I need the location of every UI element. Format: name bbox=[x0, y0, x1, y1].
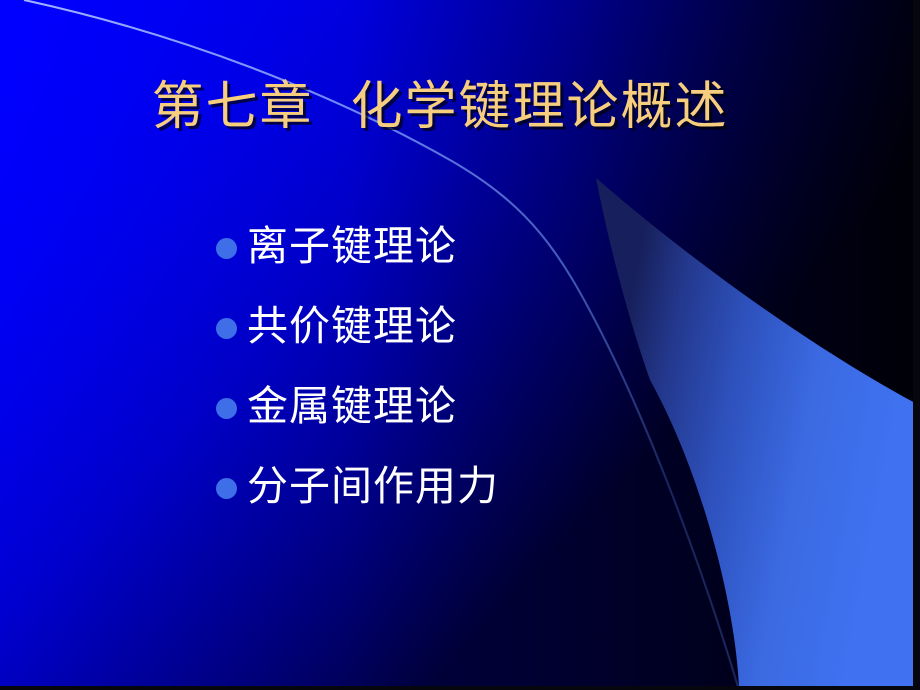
slide-right-edge bbox=[913, 0, 920, 690]
disc-bullet-icon bbox=[216, 238, 237, 259]
list-item[interactable]: 分子间作用力 bbox=[216, 446, 816, 526]
presentation-slide: 第七章 化学键理论概述 离子键理论 共价键理论 金属键理论 分子间作用力 bbox=[0, 0, 920, 690]
disc-bullet-icon bbox=[216, 318, 237, 339]
list-item[interactable]: 金属键理论 bbox=[216, 366, 816, 446]
disc-bullet-icon bbox=[216, 478, 237, 499]
bullet-list: 离子键理论 共价键理论 金属键理论 分子间作用力 bbox=[216, 206, 816, 526]
list-item[interactable]: 共价键理论 bbox=[216, 286, 816, 366]
slide-title: 第七章 化学键理论概述 bbox=[0, 76, 880, 138]
list-item-label: 金属键理论 bbox=[247, 382, 457, 430]
disc-bullet-icon bbox=[216, 398, 237, 419]
list-item-label: 共价键理论 bbox=[247, 302, 457, 350]
list-item[interactable]: 离子键理论 bbox=[216, 206, 816, 286]
list-item-label: 离子键理论 bbox=[247, 222, 457, 270]
slide-bottom-edge bbox=[0, 686, 920, 690]
list-item-label: 分子间作用力 bbox=[247, 462, 499, 510]
